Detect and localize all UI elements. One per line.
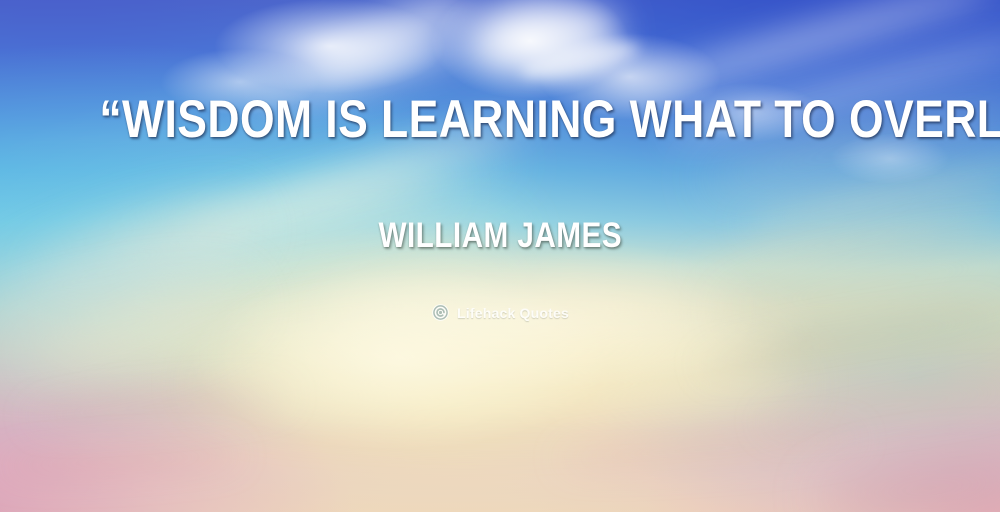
quote-block: “WISDOM IS LEARNING WHAT TO OVERLOOK.” [0, 92, 1000, 148]
cloud-burst-glow [0, 0, 1000, 512]
sky-golden-core [0, 0, 1000, 512]
atmospheric-haze [0, 0, 1000, 512]
sky-top-right-blue-wash [0, 0, 1000, 512]
sky-cyan-band [0, 0, 1000, 512]
quote-text: “WISDOM IS LEARNING WHAT TO OVERLOOK.” [99, 92, 1000, 148]
sky-base-gradient [0, 0, 1000, 512]
watermark: Lifehack Quotes [0, 303, 1000, 322]
sky-pink-lower-right [0, 0, 1000, 512]
sky-teal-haze [0, 0, 1000, 512]
lifehack-swirl-icon [431, 303, 450, 322]
sky-top-left-blue-wash [0, 0, 1000, 512]
cirrus-clouds [0, 0, 1000, 512]
author-block: WILLIAM JAMES [0, 216, 1000, 256]
watermark-brand: Lifehack Quotes [457, 305, 569, 321]
quote-author: WILLIAM JAMES [378, 216, 622, 256]
sky-pink-lower-left [0, 0, 1000, 512]
quote-card: “WISDOM IS LEARNING WHAT TO OVERLOOK.” W… [0, 0, 1000, 512]
